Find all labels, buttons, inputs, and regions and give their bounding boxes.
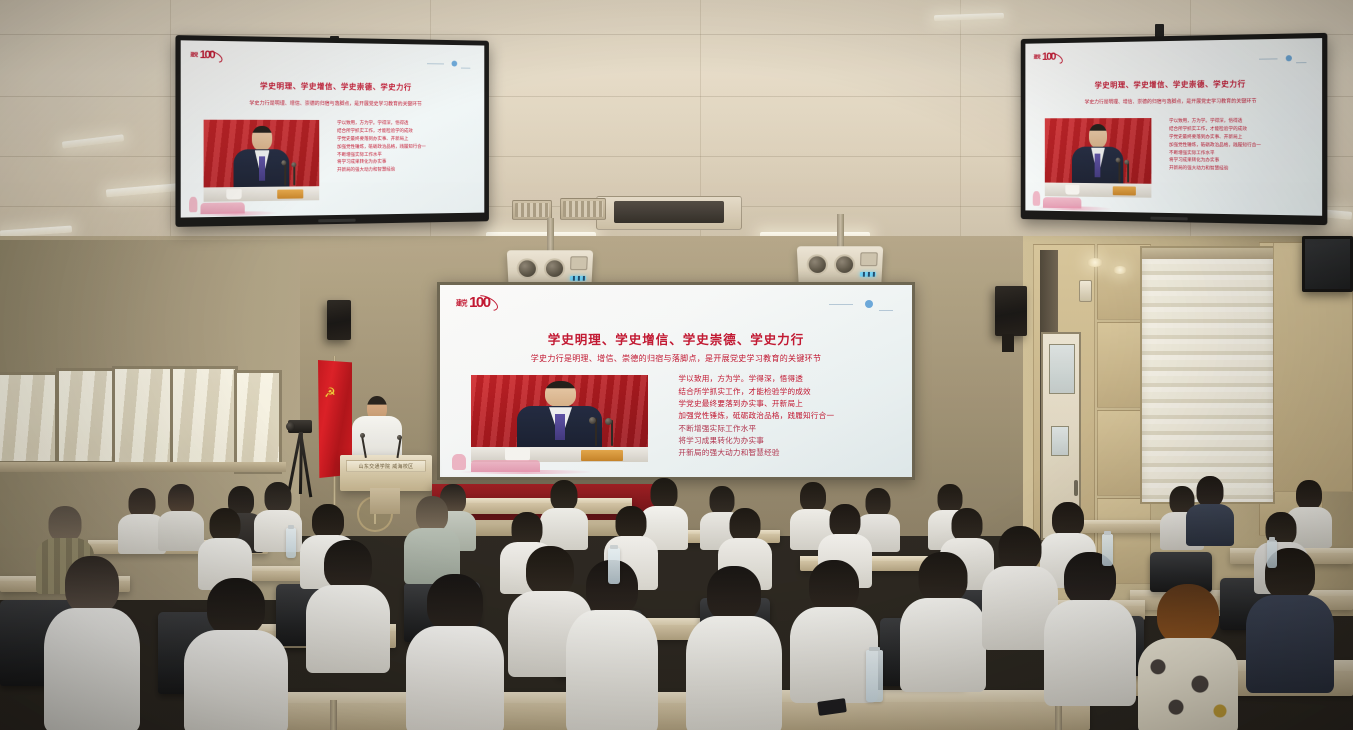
tv-body-line: 学党史最终要落到办实事、开新局上 [1169, 134, 1309, 142]
tv-body-line: 结合所学抓实工作，才能检验学的成效 [1169, 126, 1309, 134]
tv-body-line: 加强党性锤炼，砥砺政治品格，践履知行合一 [1169, 142, 1309, 150]
audience-member [198, 508, 252, 586]
flag-emblem: ☭ [324, 386, 338, 417]
audience-member [790, 560, 878, 700]
slide-body-line: 开新局的强大动力和智慧经验 [678, 447, 895, 459]
ceiling-light [62, 134, 124, 149]
wall-speaker-left [327, 300, 351, 340]
camera-lens-icon [286, 422, 295, 431]
audience-member [44, 556, 140, 730]
water-bottle [1102, 534, 1113, 566]
podium: 山东交通学院 威海校区 [340, 455, 432, 491]
slide-body-line: 结合所学抓实工作，才能检验学的成效 [678, 386, 895, 398]
wall-tv-left: 建党 100 学史明理、学史增信、学史崇德、学史力行 学史力行是明理、增信、崇德… [175, 35, 488, 227]
ceiling-light [934, 13, 1004, 21]
tv-slide-body: 学以致用，方为学。学得深，悟得透 结合所学抓实工作，才能检验学的成效 学党史最终… [337, 120, 473, 175]
logo-text: 建党 [1034, 54, 1040, 61]
window [0, 372, 58, 464]
emergency-light [1079, 280, 1092, 302]
downlight [1087, 258, 1103, 267]
tv-slide-subtitle: 学史力行是明理、增信、崇德的归宿与落脚点，是开展党史学习教育的关键环节 [181, 99, 485, 108]
water-bottle [286, 528, 296, 558]
logo-text: 建党 [190, 51, 197, 59]
lecture-hall-scene: 建党 100 学史明理、学史增信、学史崇德、学史力行 学史力行是明理、增信、崇德… [0, 0, 1353, 730]
party-100-logo: 建党 100 [1034, 52, 1055, 63]
window [170, 366, 238, 470]
tv-slide-title: 学史明理、学史增信、学史崇德、学史力行 [1025, 77, 1322, 91]
tv-body-line: 学以致用，方为学。学得深，悟得透 [337, 120, 473, 128]
tv-body-line: 开新局的强大动力和智慧经验 [337, 166, 473, 175]
water-bottle [1267, 540, 1277, 568]
party-100-logo: 建党 100 [456, 295, 490, 310]
slide-subtitle: 学史力行是明理、增信、崇德的归宿与落脚点，是开展党史学习教育的关键环节 [440, 353, 912, 364]
podium-name-plate: 山东交通学院 威海校区 [346, 460, 427, 472]
slide-body-line: 加强党性锤炼，砥砺政治品格，践履知行合一 [678, 410, 895, 422]
window-blinds[interactable] [1140, 246, 1275, 504]
presentation-slide: 建党 100 学史明理、学史增信、学史崇德、学史力行 学史力行是明理、增信、崇德… [440, 285, 912, 477]
slide-footer-decoration [449, 450, 600, 475]
audience-member [184, 578, 288, 730]
tv-body-line: 开新局的强大动力和智慧经验 [1169, 165, 1309, 174]
window [112, 366, 174, 466]
ac-vent [596, 196, 742, 230]
slide-body-line: 不断增强实际工作水平 [678, 423, 895, 435]
audience-member [686, 566, 782, 730]
audience-member [1044, 552, 1136, 702]
tv-slide-photo [1045, 118, 1151, 197]
window [56, 368, 116, 464]
audience-member [1186, 476, 1234, 542]
logo-text: 建党 [456, 296, 467, 307]
audience-member [406, 574, 504, 730]
water-bottle [608, 548, 620, 584]
slide-body-line: 学以致用，方为学。学得深，悟得透 [678, 373, 895, 385]
tv-slide-photo [203, 120, 319, 201]
projection-screen: 建党 100 学史明理、学史增信、学史崇德、学史力行 学史力行是明理、增信、崇德… [437, 282, 915, 480]
slide-photo [471, 375, 648, 461]
slide-body-text: 学以致用，方为学。学得深，悟得透 结合所学抓实工作，才能检验学的成效 学党史最终… [678, 373, 895, 459]
audience-member [900, 552, 986, 688]
audience-member [404, 496, 460, 580]
wall-speaker-right [995, 286, 1027, 336]
downlight [1113, 266, 1127, 274]
audience-member [1246, 548, 1334, 690]
tv-body-line: 结合所学抓实工作，才能检验学的成效 [337, 128, 473, 136]
window [234, 370, 282, 474]
audience-member [566, 560, 658, 730]
tv-slide-subtitle: 学史力行是明理、增信、崇德的归宿与落脚点，是开展党史学习教育的关键环节 [1025, 97, 1322, 106]
slide-decoration [829, 298, 893, 314]
corner-monitor-right [1302, 236, 1353, 292]
audience-member [306, 540, 390, 670]
ac-vent [560, 198, 606, 220]
slide-title: 学史明理、学史增信、学史崇德、学史力行 [440, 329, 912, 348]
water-bottle [866, 650, 883, 702]
audience-member [1138, 584, 1238, 730]
wall-tv-right: 建党 100 学史明理、学史增信、学史崇德、学史力行 学史力行是明理、增信、崇德… [1021, 33, 1328, 225]
tv-slide-body: 学以致用，方为学。学得深，悟得透 结合所学抓实工作，才能检验学的成效 学党史最终… [1169, 118, 1309, 174]
slide-body-line: 学党史最终要落到办实事、开新局上 [678, 398, 895, 410]
party-100-logo: 建党 100 [190, 49, 214, 61]
tv-body-line: 学以致用，方为学。学得深，悟得透 [1169, 118, 1309, 126]
slide-body-line: 将学习成果转化为办实事 [678, 435, 895, 447]
ac-vent [512, 200, 552, 220]
tv-slide-title: 学史明理、学史增信、学史崇德、学史力行 [181, 79, 485, 93]
ceiling-light [106, 183, 186, 198]
